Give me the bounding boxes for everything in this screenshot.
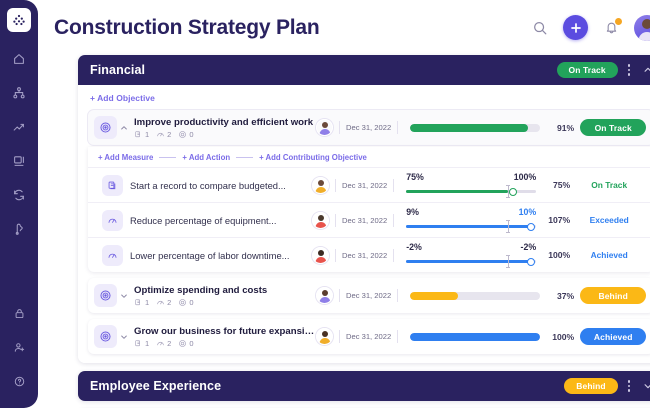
objective-block: Grow our business for future expansion 1 [88,319,650,354]
section-title: Employee Experience [90,379,221,393]
objective-text-column: Optimize spending and costs 1 [134,285,316,307]
progress-percent: 37% [540,291,574,301]
slider-fill [406,190,507,193]
slider-tick-marker [508,220,509,233]
objective-name: Optimize spending and costs [134,285,316,297]
objective-block: Optimize spending and costs 1 [88,278,650,313]
divider [335,179,336,192]
objective-name: Grow our business for future expansion [134,326,316,338]
slider-labels: -2% -2% [406,242,536,253]
owner-avatar[interactable] [316,119,333,136]
section-header[interactable]: Financial On Track [78,55,650,85]
sidebar-item-admin[interactable] [4,300,34,326]
link-divider [159,157,176,158]
board: Financial On Track + Add Objective [48,55,650,408]
measures-count-group: 2 [156,298,171,307]
measure-due-date: Dec 31, 2022 [342,251,387,260]
notification-dot-badge [614,17,623,26]
measure-target-value: -2% [521,242,537,253]
measure-progress-percent: 100% [536,250,570,260]
divider [393,214,394,227]
chevron-up-icon[interactable] [640,62,650,78]
progress-fill [410,333,540,341]
add-action-link[interactable]: + Add Action [182,153,230,162]
progress-percent: 91% [540,123,574,133]
search-icon[interactable] [529,17,551,39]
status-badge: Behind [564,378,617,394]
objectives-count: 0 [189,130,193,139]
objectives-count-group: 0 [178,298,193,307]
progress-fill [410,124,528,132]
sidebar-item-goals[interactable] [4,216,34,242]
target-icon [94,284,117,307]
section-header-actions: On Track [557,61,650,79]
sidebar-bottom-group [4,300,34,408]
objective-due-date: Dec 31, 2022 [346,123,391,132]
divider [397,121,398,134]
measure-name: Reduce percentage of equipment... [130,215,312,226]
actions-count: 1 [145,130,149,139]
objective-due-date: Dec 31, 2022 [346,332,391,341]
objective-status-column: Achieved [580,328,646,345]
measure-status: Exceeded [576,215,642,225]
slider-track [406,190,536,193]
objective-meta: 1 2 [134,298,316,307]
slider-fill [406,225,530,228]
objective-name: Improve productivity and efficient work [134,117,316,129]
measure-row[interactable]: Reduce percentage of equipment... Dec 31… [88,202,650,237]
progress-track [410,124,540,132]
measure-status: Achieved [576,250,642,260]
measure-icon [102,210,123,231]
dots-grid-logo-icon[interactable] [7,8,31,32]
owner-avatar[interactable] [312,177,329,194]
objective-row[interactable]: Grow our business for future expansion 1 [88,319,650,354]
action-icon [134,339,143,348]
measure-icon [156,298,165,307]
chevron-down-icon[interactable] [640,378,650,394]
sidebar-item-home[interactable] [4,46,34,72]
target-icon [178,339,187,348]
avatar[interactable] [634,15,650,41]
divider [397,289,398,302]
chevron-up-icon[interactable] [118,124,129,132]
actions-count-group: 1 [134,130,149,139]
measure-status: On Track [576,180,642,190]
objectives-count-group: 0 [178,339,193,348]
divider [397,330,398,343]
divider [339,330,340,343]
objective-icon-group [94,284,129,307]
notifications-button[interactable] [600,17,622,39]
objectives-count: 0 [189,298,193,307]
add-objective-link[interactable]: + Add Objective [90,93,650,103]
slider-labels: 75% 100% [406,172,536,183]
add-contributing-objective-link[interactable]: + Add Contributing Objective [259,153,367,162]
measure-slider[interactable]: -2% -2% [406,242,536,268]
objective-meta: 1 2 [134,130,316,139]
status-badge: Behind [580,287,646,304]
progress-bar [410,333,540,341]
target-icon [178,298,187,307]
measure-name: Start a record to compare budgeted... [130,180,312,191]
status-badge: Achieved [580,328,646,345]
status-badge: On Track [557,62,618,78]
sidebar-item-org-chart[interactable] [4,80,34,106]
objective-meta: 1 2 [134,339,316,348]
measure-slider[interactable]: 75% 100% [406,172,536,198]
slider-fill [406,260,530,263]
app-root: Construction Strategy Plan [0,0,650,408]
objective-status-column: Behind [580,287,646,304]
slider-track [406,225,536,228]
measure-current-value: 9% [406,207,419,218]
chevron-down-icon[interactable] [118,292,129,300]
objective-icon-group [94,116,129,139]
measure-row[interactable]: Start a record to compare budgeted... De… [88,167,650,202]
section-body: + Add Objective [78,85,650,363]
divider [393,179,394,192]
divider [339,289,340,302]
section-title: Financial [90,63,145,77]
actions-count-group: 1 [134,339,149,348]
objective-row[interactable]: Optimize spending and costs 1 [88,278,650,313]
measure-due-date: Dec 31, 2022 [342,216,387,225]
owner-avatar[interactable] [316,287,333,304]
objective-due-date: Dec 31, 2022 [346,291,391,300]
measure-icon [156,339,165,348]
action-icon [102,175,123,196]
progress-track [410,292,540,300]
target-icon [94,325,117,348]
sidebar [0,0,38,408]
main-area: Construction Strategy Plan [38,0,650,408]
measure-icon [156,130,165,139]
actions-count: 1 [145,298,149,307]
owner-avatar[interactable] [312,247,329,264]
measure-target-value: 100% [514,172,537,183]
objective-children-panel: + Add Measure + Add Action + Add Contrib… [88,147,650,272]
objective-status-column: On Track [580,119,646,136]
page-title: Construction Strategy Plan [54,16,320,40]
objective-block: Improve productivity and efficient work … [88,110,650,272]
progress-bar [410,124,540,132]
measures-count: 2 [167,130,171,139]
sidebar-item-board[interactable] [4,148,34,174]
progress-track [410,333,540,341]
measure-icon [102,245,123,266]
measures-count: 2 [167,298,171,307]
add-links-row: + Add Measure + Add Action + Add Contrib… [88,149,650,167]
measure-target-value: 10% [519,207,537,218]
action-icon [134,130,143,139]
action-icon [134,298,143,307]
objectives-count: 0 [189,339,193,348]
section-header-actions: Behind [564,377,650,395]
divider [393,249,394,262]
measure-name: Lower percentage of labor downtime... [130,250,312,261]
measure-row[interactable]: Lower percentage of labor downtime... De… [88,237,650,272]
owner-avatar[interactable] [312,212,329,229]
measure-current-value: 75% [406,172,424,183]
divider [335,214,336,227]
measure-slider[interactable]: 9% 10% [406,207,536,233]
measure-progress-percent: 107% [536,215,570,225]
sidebar-item-sync[interactable] [4,182,34,208]
divider [335,249,336,262]
measures-count-group: 2 [156,130,171,139]
top-bar: Construction Strategy Plan [48,0,650,55]
target-icon [178,130,187,139]
section-employee-experience: Employee Experience Behind [78,371,650,401]
progress-bar [410,292,540,300]
sidebar-item-invite[interactable] [4,334,34,360]
objective-icon-group [94,325,129,348]
objective-text-column: Improve productivity and efficient work … [134,117,316,139]
owner-avatar[interactable] [316,328,333,345]
slider-tick-marker [508,255,509,268]
measure-progress-percent: 75% [536,180,570,190]
slider-knob[interactable] [527,223,535,231]
slider-knob[interactable] [527,258,535,266]
progress-fill [410,292,458,300]
progress-percent: 100% [540,332,574,342]
target-icon [94,116,117,139]
more-options-icon[interactable] [624,377,635,395]
measure-due-date: Dec 31, 2022 [342,181,387,190]
slider-labels: 9% 10% [406,207,536,218]
measures-count-group: 2 [156,339,171,348]
sidebar-item-help[interactable] [4,368,34,394]
actions-count-group: 1 [134,298,149,307]
slider-knob[interactable] [509,188,517,196]
objectives-count-group: 0 [178,130,193,139]
objective-row[interactable]: Improve productivity and efficient work … [88,110,650,145]
measures-count: 2 [167,339,171,348]
objective-text-column: Grow our business for future expansion 1 [134,326,316,348]
sidebar-item-performance[interactable] [4,114,34,140]
measure-current-value: -2% [406,242,422,253]
actions-count: 1 [145,339,149,348]
link-divider [236,157,253,158]
more-options-icon[interactable] [624,61,635,79]
chevron-down-icon[interactable] [118,333,129,341]
status-badge: On Track [580,119,646,136]
section-header[interactable]: Employee Experience Behind [78,371,650,401]
add-button[interactable] [563,15,588,40]
divider [339,121,340,134]
add-measure-link[interactable]: + Add Measure [98,153,153,162]
section-financial: Financial On Track + Add Objective [78,55,650,363]
top-bar-actions [529,15,650,41]
slider-track [406,260,536,263]
